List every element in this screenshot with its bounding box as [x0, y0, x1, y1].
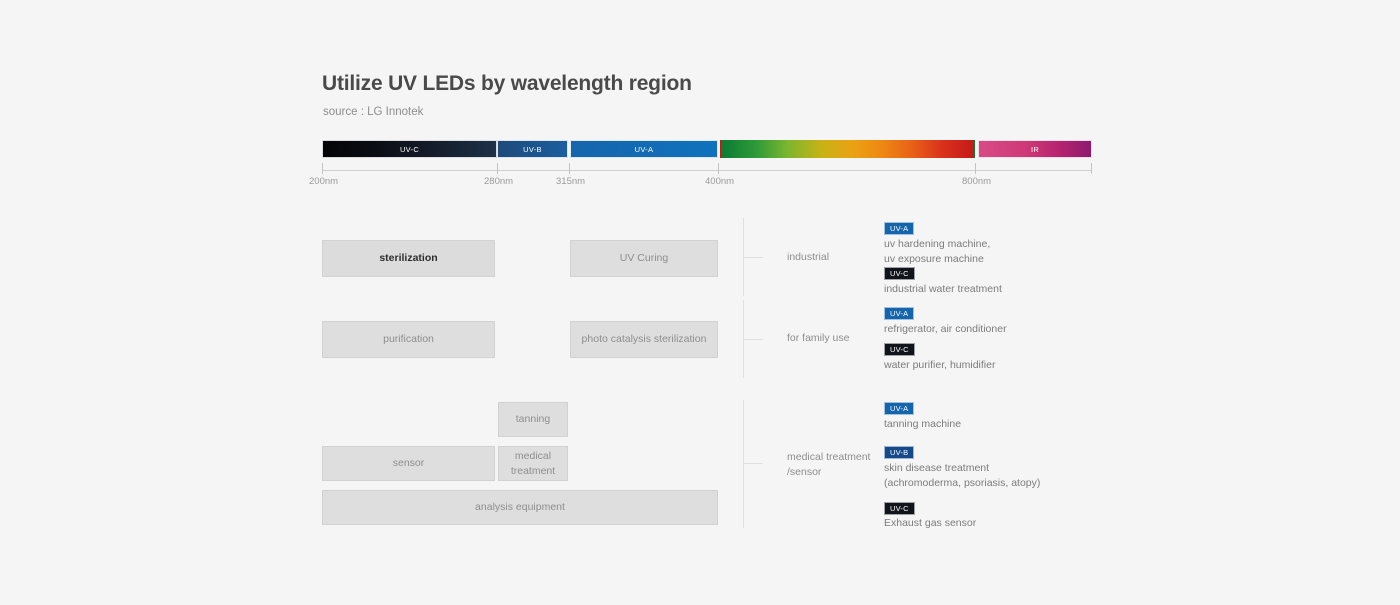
bracket-horizontal-stub: [743, 339, 763, 340]
item-text-water-purifier-humidifier: water purifier, humidifier: [884, 358, 995, 373]
page-title: Utilize UV LEDs by wavelength region: [322, 72, 692, 96]
axis-tick-label-280nm: 280nm: [484, 176, 513, 187]
axis-tick: [497, 163, 498, 174]
badge-uva: UV-A: [884, 402, 914, 415]
item-text-tanning-machine: tanning machine: [884, 417, 961, 432]
app-box-analysis-equipment[interactable]: analysis equipment: [322, 490, 718, 525]
item-text-industrial-water-treatment: industrial water treatment: [884, 282, 1002, 297]
item-text-exhaust-gas-sensor: Exhaust gas sensor: [884, 516, 976, 531]
category-label-family-use: for family use: [787, 331, 849, 346]
spectrum-segment-uvb-label: UV-B: [523, 145, 542, 154]
spectrum-segment-uvc: UV-C: [322, 140, 497, 158]
category-label-medical-sensor: medical treatment /sensor: [787, 450, 870, 480]
app-box-photo-catalysis-sterilization[interactable]: photo catalysis sterilization: [570, 321, 718, 358]
app-box-medical-treatment[interactable]: medical treatment: [498, 446, 568, 481]
infographic-canvas: Utilize UV LEDs by wavelength region sou…: [0, 0, 1400, 605]
bracket-vertical-line: [743, 400, 744, 528]
source-credit: source : LG Innotek: [323, 106, 423, 118]
bracket-horizontal-stub: [743, 257, 763, 258]
axis-tick-label-200nm: 200nm: [309, 176, 338, 187]
spectrum-segment-uva-label: UV-A: [635, 145, 654, 154]
item-text-refrigerator-air-conditioner: refrigerator, air conditioner: [884, 322, 1007, 337]
app-box-sensor[interactable]: sensor: [322, 446, 495, 481]
badge-uvc: UV-C: [884, 502, 915, 515]
app-box-tanning[interactable]: tanning: [498, 402, 568, 437]
axis-tick: [1091, 163, 1092, 174]
axis-tick-label-800nm: 800nm: [962, 176, 991, 187]
spectrum-segment-visible: [720, 140, 975, 158]
axis-tick: [322, 163, 323, 174]
spectrum-segment-ir-label: IR: [1031, 145, 1039, 154]
axis-tick: [718, 163, 719, 174]
spectrum-segment-uva: UV-A: [570, 140, 718, 158]
item-text-skin-disease-treatment: skin disease treatment (achromoderma, ps…: [884, 461, 1040, 490]
app-box-sterilization[interactable]: sterilization: [322, 240, 495, 277]
bracket-horizontal-stub: [743, 463, 763, 464]
spectrum-segment-uvb: UV-B: [497, 140, 568, 158]
badge-uvb: UV-B: [884, 446, 914, 459]
axis-tick: [975, 163, 976, 174]
spectrum-axis-line: [322, 170, 1092, 171]
app-box-purification[interactable]: purification: [322, 321, 495, 358]
badge-uva: UV-A: [884, 222, 914, 235]
badge-uva: UV-A: [884, 307, 914, 320]
badge-uvc: UV-C: [884, 343, 915, 356]
spectrum-segment-uvc-label: UV-C: [400, 145, 419, 154]
app-box-uv-curing[interactable]: UV Curing: [570, 240, 718, 277]
category-label-industrial: industrial: [787, 250, 829, 265]
axis-tick-label-400nm: 400nm: [705, 176, 734, 187]
badge-uvc: UV-C: [884, 267, 915, 280]
axis-tick: [569, 163, 570, 174]
item-text-uv-hardening-machine: uv hardening machine, uv exposure machin…: [884, 237, 990, 266]
spectrum-segment-ir: IR: [978, 140, 1092, 158]
axis-tick-label-315nm: 315nm: [556, 176, 585, 187]
